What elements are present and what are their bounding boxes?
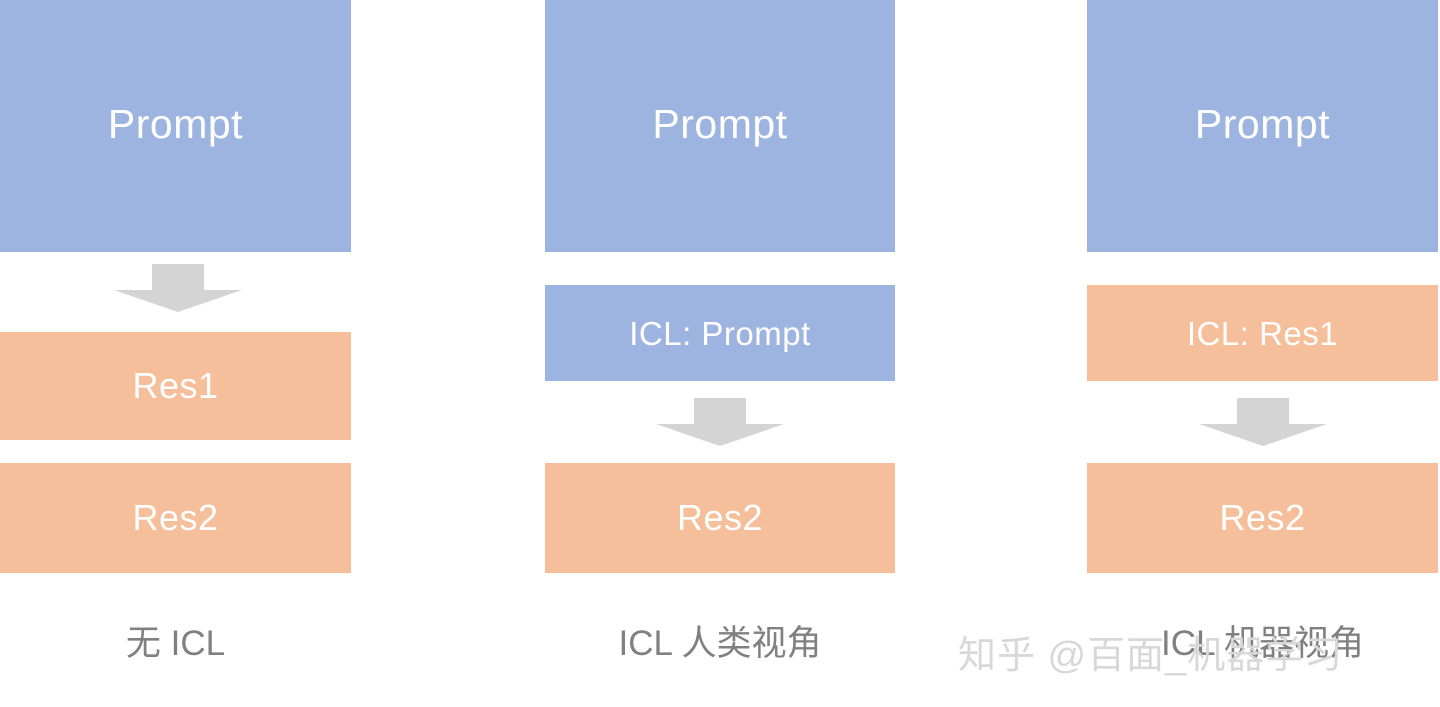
diagram-column-no-icl: Prompt Res1 Res2 无 ICL xyxy=(0,0,351,707)
block-label: ICL: Res1 xyxy=(1187,317,1338,350)
diagram-column-icl-machine-view: Prompt ICL: Res1 Res2 ICL 机器视角 xyxy=(1087,0,1438,707)
caption-icl-machine-view: ICL 机器视角 xyxy=(1087,622,1438,666)
caption-icl-human-view: ICL 人类视角 xyxy=(545,622,895,666)
block-label: Prompt xyxy=(1195,104,1330,145)
block-prompt-col3: Prompt xyxy=(1087,0,1438,252)
diagram-column-icl-human-view: Prompt ICL: Prompt Res2 ICL 人类视角 xyxy=(545,0,895,707)
block-label: Prompt xyxy=(108,104,243,145)
block-res2-col2: Res2 xyxy=(545,463,895,573)
block-res1-col1: Res1 xyxy=(0,332,351,440)
down-arrow-icon xyxy=(114,264,242,312)
block-label: Res2 xyxy=(1219,500,1305,536)
block-icl-res1-col3: ICL: Res1 xyxy=(1087,285,1438,381)
block-label: Res2 xyxy=(132,500,218,536)
block-prompt-col2: Prompt xyxy=(545,0,895,252)
down-arrow-icon xyxy=(1199,398,1327,446)
block-prompt-col1: Prompt xyxy=(0,0,351,252)
down-arrow-icon xyxy=(656,398,784,446)
block-icl-prompt-col2: ICL: Prompt xyxy=(545,285,895,381)
caption-no-icl: 无 ICL xyxy=(0,622,351,666)
block-label: Prompt xyxy=(652,104,787,145)
block-label: Res1 xyxy=(132,368,218,404)
block-label: ICL: Prompt xyxy=(629,317,811,350)
diagram-canvas: Prompt Res1 Res2 无 ICL Prompt ICL: Promp… xyxy=(0,0,1440,707)
block-res2-col3: Res2 xyxy=(1087,463,1438,573)
block-res2-col1: Res2 xyxy=(0,463,351,573)
block-label: Res2 xyxy=(677,500,763,536)
